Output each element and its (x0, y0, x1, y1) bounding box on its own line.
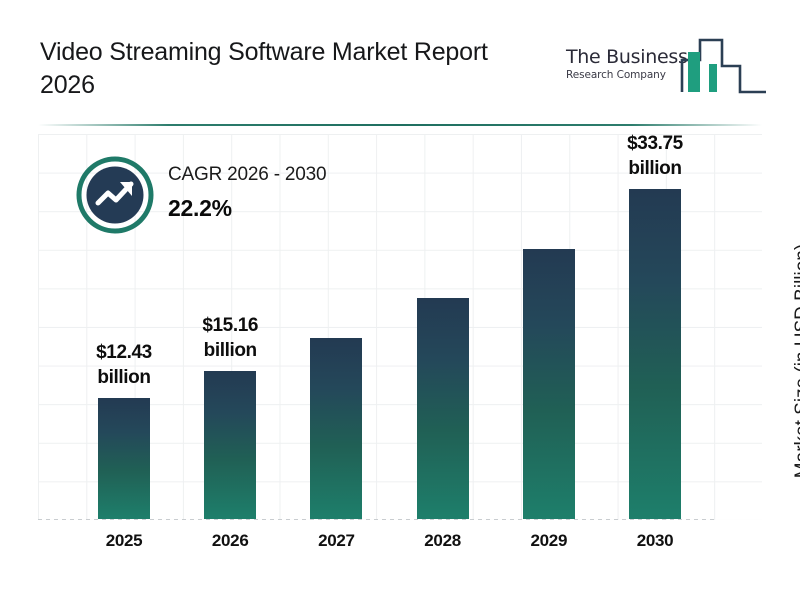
cagr-badge: CAGR 2026 - 2030 22.2% (76, 152, 376, 244)
x-tick-2025: 2025 (74, 531, 174, 551)
header: Video Streaming Software Market Report 2… (0, 0, 800, 128)
cagr-period-label: CAGR 2026 - 2030 (168, 164, 326, 186)
value-label-2026: $15.16 billion (174, 313, 286, 363)
company-logo: The Business Research Company (560, 30, 770, 100)
cagr-text-block: CAGR 2026 - 2030 22.2% (168, 164, 326, 222)
bar-2027 (310, 338, 362, 519)
x-tick-2030: 2030 (605, 531, 705, 551)
logo-line-2: Research Company (566, 69, 696, 81)
cagr-value-label: 22.2% (168, 195, 326, 222)
x-axis-baseline (38, 519, 718, 520)
value-label-2030: $33.75 billion (599, 131, 711, 181)
x-tick-2027: 2027 (286, 531, 386, 551)
chart-infographic: Video Streaming Software Market Report 2… (0, 0, 800, 600)
logo-line-1: The Business (566, 46, 696, 68)
bar-2026 (204, 371, 256, 519)
bar-2028 (417, 298, 469, 519)
bar-2025 (98, 398, 150, 519)
trending-up-icon (76, 156, 154, 234)
bar-chart-logo-icon (678, 30, 770, 100)
x-tick-2028: 2028 (393, 531, 493, 551)
page-title: Video Streaming Software Market Report 2… (40, 36, 540, 102)
value-label-2025: $12.43 billion (68, 340, 180, 390)
y-axis-label: Market Size (in USD Billion) (792, 196, 800, 526)
bar-2029 (523, 249, 575, 519)
x-tick-2029: 2029 (499, 531, 599, 551)
header-divider (38, 124, 762, 126)
logo-wordmark: The Business Research Company (566, 46, 696, 81)
bar-2030 (629, 189, 681, 519)
x-tick-2026: 2026 (180, 531, 280, 551)
